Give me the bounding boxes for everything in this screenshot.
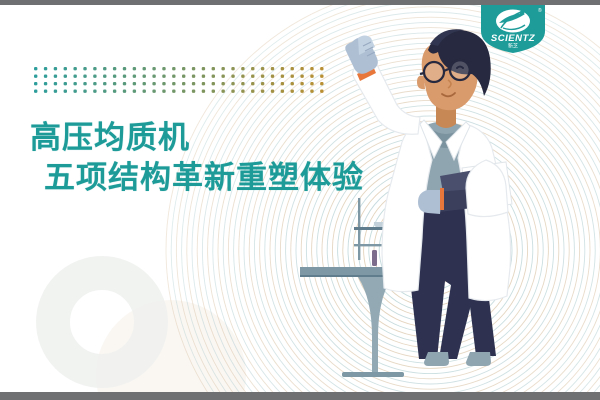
scientz-logo[interactable]: SCIENTZ 新芝 ®: [481, 1, 545, 53]
promotional-banner: 高压均质机 五项结构革新重塑体验 SCIENTZ 新芝 ®: [0, 0, 600, 400]
bottom-chrome-bar: [0, 392, 600, 400]
logo-brand-text: SCIENTZ: [491, 33, 536, 44]
logo-emblem: [496, 10, 530, 33]
headline-line-2: 五项结构革新重塑体验: [30, 158, 364, 198]
page-title: 高压均质机 五项结构革新重塑体验: [30, 118, 364, 197]
headline-line-1: 高压均质机: [30, 118, 364, 158]
dot-grid-decor: [33, 66, 329, 96]
trademark-icon: ®: [538, 7, 542, 14]
top-chrome-bar: [0, 0, 600, 5]
character-head: [417, 29, 491, 128]
scientist-illustration: [300, 0, 600, 400]
logo-brand-cn-text: 新芝: [508, 43, 518, 50]
